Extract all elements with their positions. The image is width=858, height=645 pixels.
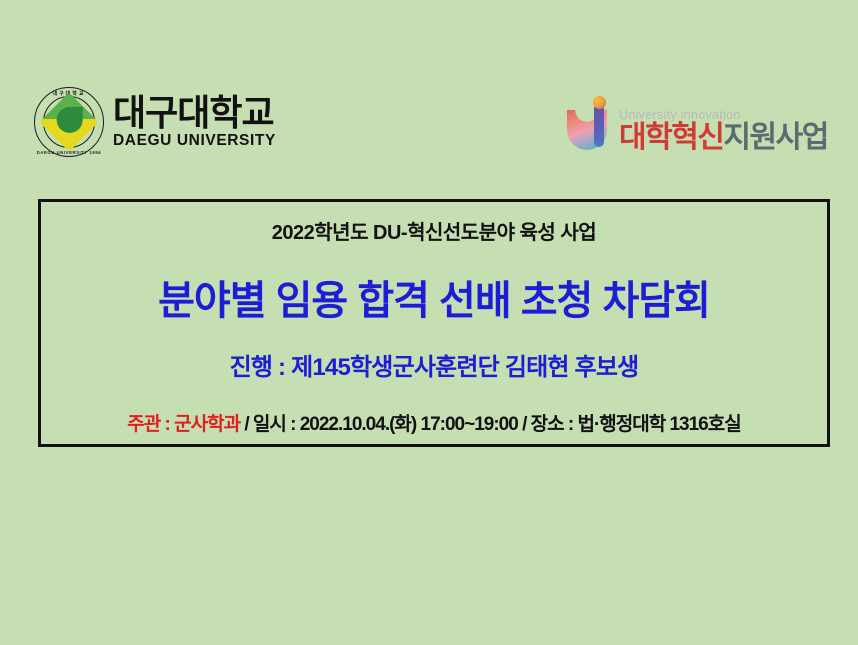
ui-letter-i-dot [593, 96, 606, 109]
daegu-university-logo: 대구대학교 DAEGU UNIVERSITY 1956 대구대학교 DAEGU … [34, 84, 284, 160]
university-innovation-logo: University innovation 대학혁신지원사업 [567, 92, 827, 154]
university-name-korean: 대구대학교 [113, 95, 276, 131]
poster-organizer: 주관 : 군사학과 [127, 414, 240, 435]
innovation-tagline: University innovation [619, 109, 828, 122]
poster-subtitle: 2022학년도 DU-혁신선도분야 육성 사업 [41, 216, 827, 245]
university-name-english: DAEGU UNIVERSITY [113, 133, 276, 149]
poster-title: 분야별 임용 합격 선배 초청 차담회 [41, 268, 827, 326]
seal-bottom-text: DAEGU UNIVERSITY 1956 [34, 150, 104, 155]
university-innovation-wordmark: University innovation 대학혁신지원사업 [619, 109, 828, 155]
innovation-title-gray: 지원사업 [723, 121, 827, 154]
poster-header: 대구대학교 DAEGU UNIVERSITY 1956 대구대학교 DAEGU … [0, 0, 858, 185]
poster-content-box: 2022학년도 DU-혁신선도분야 육성 사업 분야별 임용 합격 선배 초청 … [38, 199, 830, 447]
ui-monogram-icon [567, 96, 615, 154]
ui-letter-i-stem [594, 107, 604, 147]
poster-details: / 일시 : 2022.10.04.(화) 17:00~19:00 / 장소 :… [240, 414, 741, 435]
daegu-university-wordmark: 대구대학교 DAEGU UNIVERSITY [113, 95, 276, 149]
poster-info-line: 주관 : 군사학과 / 일시 : 2022.10.04.(화) 17:00~19… [41, 409, 827, 436]
poster-host-line: 진행 : 제145학생군사훈련단 김태현 후보생 [41, 347, 827, 382]
innovation-title-row: 대학혁신지원사업 [619, 123, 828, 153]
innovation-title-red: 대학혁신 [619, 121, 723, 154]
daegu-university-seal-icon: 대구대학교 DAEGU UNIVERSITY 1956 [34, 87, 104, 157]
